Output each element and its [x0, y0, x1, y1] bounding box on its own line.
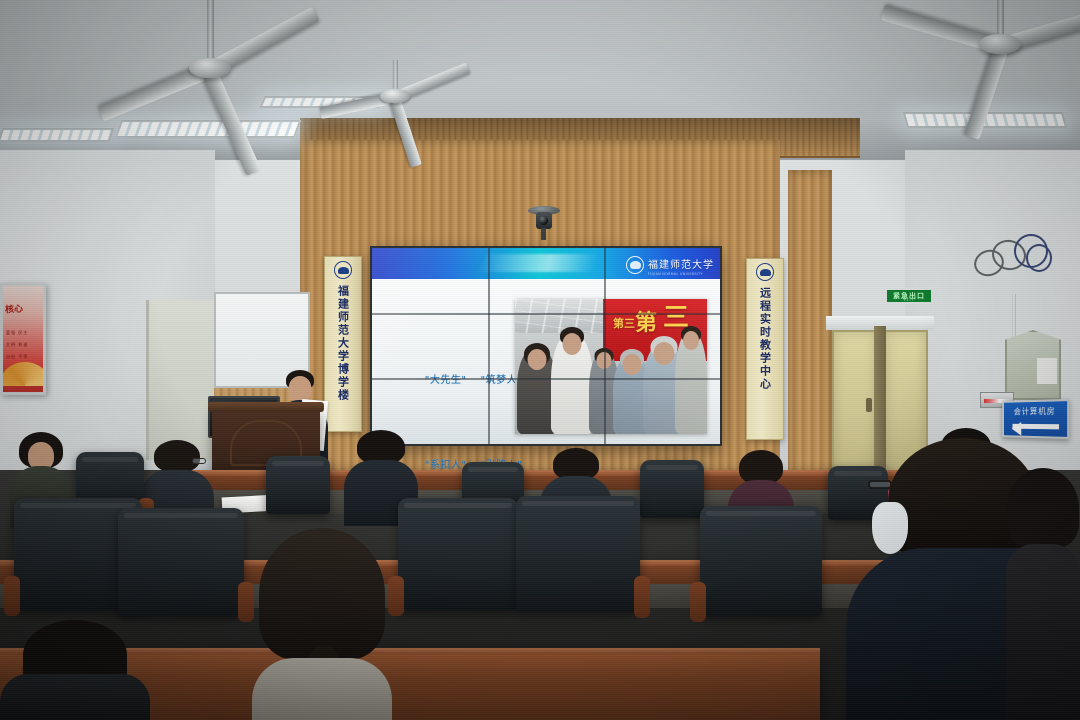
chair[interactable] [398, 498, 518, 610]
left-door[interactable] [146, 300, 216, 460]
university-seal-icon [626, 256, 644, 274]
camera-lens-icon [539, 216, 548, 225]
hair [154, 440, 200, 472]
chair[interactable] [516, 496, 640, 612]
torso [252, 658, 392, 720]
photo-person-right [675, 331, 707, 434]
poster-line: 文明 和谐 [6, 342, 28, 348]
poster-title: 核心 [5, 302, 24, 316]
head [654, 342, 675, 365]
face-mask [872, 502, 908, 554]
slide-header-bar: 福建师范大学 FUJIAN NORMAL UNIVERSITY [372, 248, 720, 279]
slide-body: "大先生""筑梦人" "系扣人""引路人" "四有好老师" "四个引路人" "四… [372, 279, 720, 444]
photo-banner-text: 第三 [613, 315, 635, 331]
panel-label [1037, 358, 1057, 384]
poster-line: 富强 民主 [6, 330, 28, 336]
head [563, 333, 582, 355]
electrical-panel [1005, 330, 1061, 400]
direction-sign-label: 会计算机房 [1004, 405, 1067, 417]
university-subtitle: FUJIAN NORMAL UNIVERSITY [648, 272, 714, 276]
photo-banner-glyph: 第 [635, 305, 657, 337]
conference-room-photo: 核心 富强 民主 文明 和谐 自由 平等 福建师范大学博学楼 福建师范大学 FU… [0, 0, 1080, 720]
attendee-front-ponytail [252, 528, 392, 720]
left-banner-text: 福建师范大学博学楼 [336, 285, 351, 402]
fan-rod [207, 0, 214, 58]
attendee-front-right-edge [1006, 468, 1080, 720]
hair [739, 450, 783, 484]
glasses-icon [192, 458, 206, 464]
ceiling-light-2 [0, 128, 114, 142]
slide-term: "大先生" [425, 375, 467, 386]
lectern-top [208, 402, 324, 412]
fan-rod [997, 0, 1004, 34]
torso [1006, 544, 1080, 720]
chair[interactable] [640, 460, 704, 518]
chair[interactable] [118, 508, 244, 616]
exit-sign-sublabel: EXIT [904, 298, 915, 302]
right-banner: 远程实时教学中心 [746, 258, 784, 440]
fan-rod [393, 60, 398, 89]
hair [259, 528, 385, 660]
left-arrow-icon [1012, 424, 1059, 430]
camera-mount [541, 228, 546, 240]
wall-poster: 核心 富强 民主 文明 和谐 自由 平等 [0, 283, 46, 395]
chair[interactable] [700, 506, 822, 616]
fan-hub [979, 34, 1021, 54]
ceiling-light-1 [115, 120, 302, 138]
head [623, 354, 642, 375]
attendee-front-left-edge [0, 620, 150, 720]
slide-photo: 第三 第 三 [515, 299, 707, 434]
fan-hub [380, 89, 410, 103]
fan-hub [189, 58, 231, 78]
university-name: 福建师范大学 [648, 260, 714, 271]
glasses-icon [868, 480, 892, 489]
head [597, 352, 612, 369]
poster-gold-fan [0, 362, 46, 386]
hair [1007, 468, 1079, 548]
poster-line: 自由 平等 [6, 354, 28, 360]
emergency-exit-sign: 紧急出口 EXIT [885, 288, 933, 304]
torso [0, 674, 150, 720]
head [528, 349, 547, 370]
photo-person-center [551, 333, 593, 434]
university-seal-icon [334, 261, 352, 279]
door-handle[interactable] [866, 398, 872, 412]
direction-sign: 会计算机房 [1002, 399, 1069, 439]
chair[interactable] [266, 456, 330, 514]
slide-line-1: "大先生""筑梦人" [388, 355, 522, 406]
head [683, 331, 699, 350]
hair [357, 430, 405, 464]
university-seal-icon [756, 263, 774, 281]
right-banner-text: 远程实时教学中心 [758, 287, 773, 391]
video-wall-display[interactable]: 福建师范大学 FUJIAN NORMAL UNIVERSITY "大先生""筑梦… [372, 248, 720, 444]
header-swoosh [477, 254, 637, 272]
left-banner: 福建师范大学博学楼 [324, 256, 362, 432]
wall-cable-bundle [968, 228, 1060, 294]
university-logo: 福建师范大学 FUJIAN NORMAL UNIVERSITY [626, 253, 714, 276]
